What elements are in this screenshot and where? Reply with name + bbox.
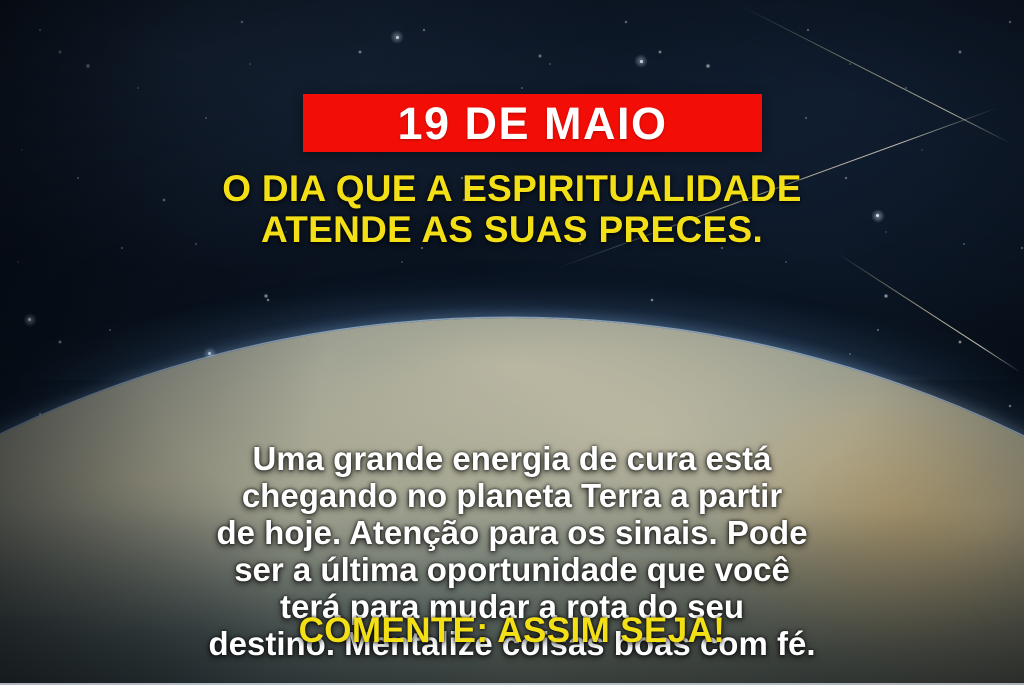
date-banner-label: 19 DE MAIO <box>397 101 667 146</box>
headline-line-2: ATENDE AS SUAS PRECES. <box>72 209 952 250</box>
headline: O DIA QUE A ESPIRITUALIDADE ATENDE AS SU… <box>72 168 952 251</box>
body-line-3: de hoje. Atenção para os sinais. Pode <box>52 515 972 552</box>
poster-content: 19 DE MAIO O DIA QUE A ESPIRITUALIDADE A… <box>0 0 1024 685</box>
headline-line-1: O DIA QUE A ESPIRITUALIDADE <box>72 168 952 209</box>
body-line-1: Uma grande energia de cura está <box>52 441 972 478</box>
body-line-2: chegando no planeta Terra a partir <box>52 478 972 515</box>
date-banner: 19 DE MAIO <box>303 94 762 152</box>
call-to-action-label: COMENTE: ASSIM SEJA! <box>299 612 726 651</box>
body-line-4: ser a última oportunidade que você <box>52 552 972 589</box>
spiritual-message-poster: 19 DE MAIO O DIA QUE A ESPIRITUALIDADE A… <box>0 0 1024 685</box>
